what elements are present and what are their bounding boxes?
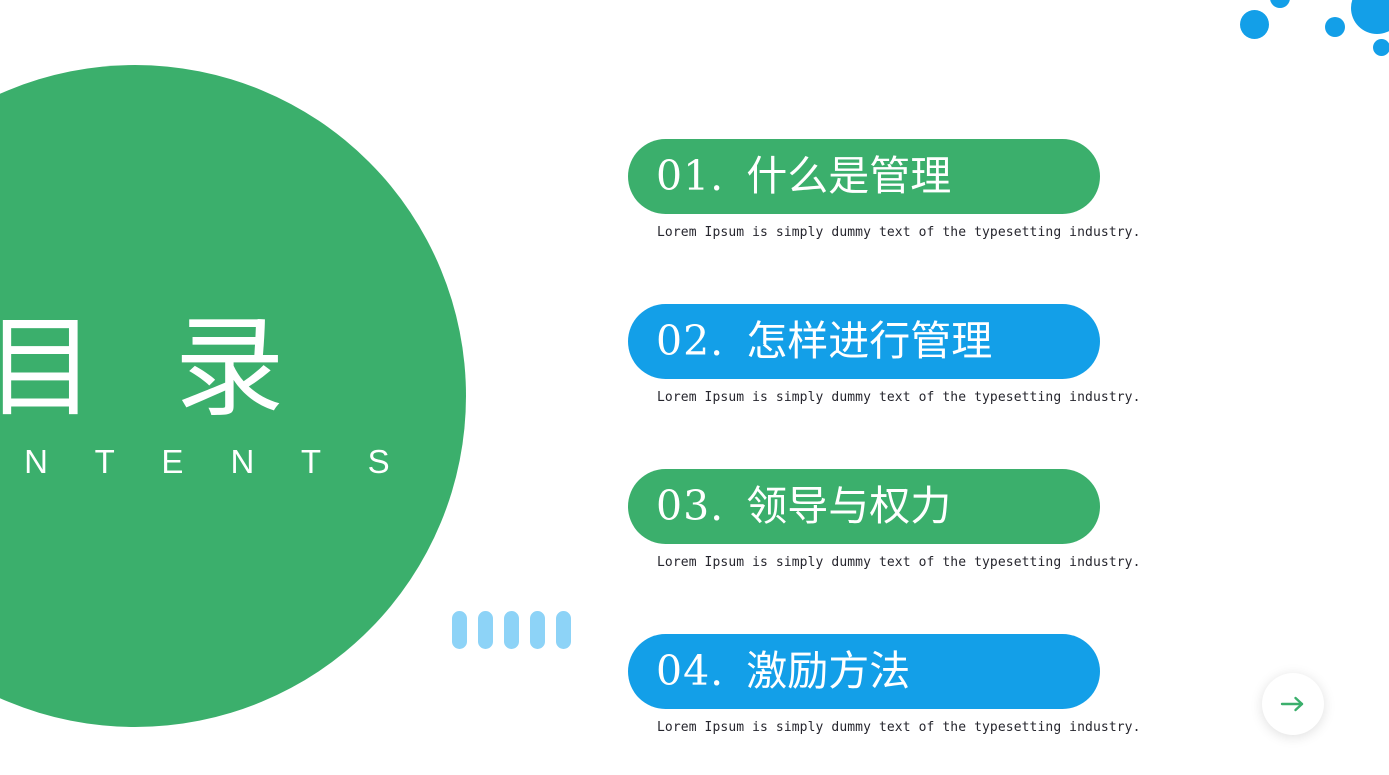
presentation-slide: 目 录 C O N T E N T S 01. 什么是管理 Lorem Ipsu…	[0, 0, 1389, 775]
decorative-dot	[1351, 0, 1389, 34]
list-item[interactable]: 03. 领导与权力 Lorem Ipsum is simply dummy te…	[628, 469, 1100, 570]
decorative-bar	[504, 611, 519, 649]
title-circle-shape	[0, 65, 466, 727]
item-title: 怎样进行管理	[746, 321, 992, 362]
item-title: 激励方法	[746, 651, 910, 692]
contents-pill-02[interactable]: 02. 怎样进行管理	[628, 304, 1100, 379]
item-description: Lorem Ipsum is simply dummy text of the …	[657, 390, 1100, 405]
item-number: 02.	[656, 321, 724, 362]
list-item[interactable]: 04. 激励方法 Lorem Ipsum is simply dummy tex…	[628, 634, 1100, 735]
item-number: 03.	[656, 486, 724, 527]
decorative-dot	[1270, 0, 1290, 8]
item-description: Lorem Ipsum is simply dummy text of the …	[657, 555, 1100, 570]
item-title: 什么是管理	[746, 156, 951, 197]
item-description: Lorem Ipsum is simply dummy text of the …	[657, 720, 1100, 735]
decorative-dot	[1373, 39, 1389, 56]
decorative-bar	[478, 611, 493, 649]
item-number: 01.	[656, 156, 724, 197]
contents-pill-01[interactable]: 01. 什么是管理	[628, 139, 1100, 214]
item-number: 04.	[656, 651, 724, 692]
contents-list: 01. 什么是管理 Lorem Ipsum is simply dummy te…	[628, 139, 1100, 735]
decorative-dot	[1325, 17, 1345, 37]
item-title: 领导与权力	[746, 486, 951, 527]
item-description: Lorem Ipsum is simply dummy text of the …	[657, 225, 1100, 240]
list-item[interactable]: 01. 什么是管理 Lorem Ipsum is simply dummy te…	[628, 139, 1100, 240]
list-item[interactable]: 02. 怎样进行管理 Lorem Ipsum is simply dummy t…	[628, 304, 1100, 405]
contents-pill-03[interactable]: 03. 领导与权力	[628, 469, 1100, 544]
decorative-dot	[1240, 10, 1269, 39]
decorative-bars	[452, 611, 571, 649]
arrow-right-icon	[1280, 696, 1306, 712]
decorative-bar	[452, 611, 467, 649]
decorative-bar	[530, 611, 545, 649]
contents-pill-04[interactable]: 04. 激励方法	[628, 634, 1100, 709]
next-slide-button[interactable]	[1262, 673, 1324, 735]
decorative-bar	[556, 611, 571, 649]
